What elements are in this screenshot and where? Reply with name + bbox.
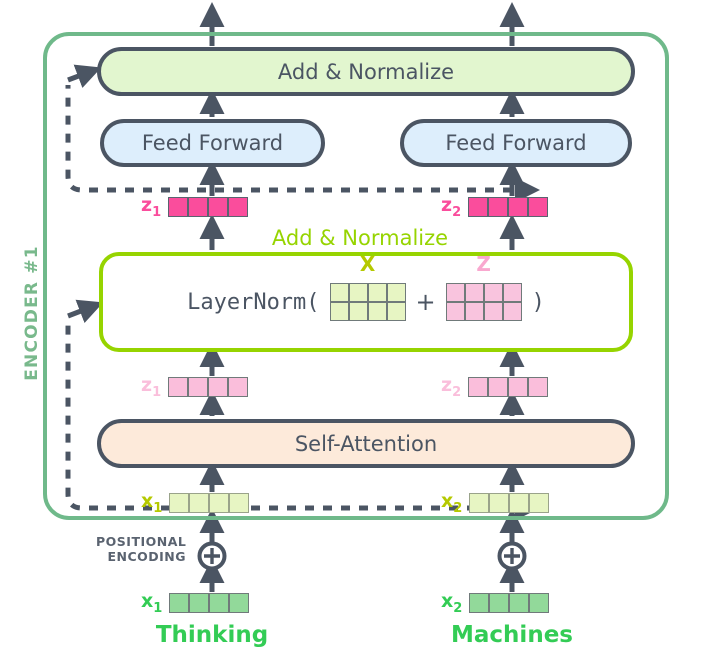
layernorm-expression: LayerNorm( X + Z ) xyxy=(99,252,633,352)
plus-circle-icon-left xyxy=(200,544,225,569)
encoder-label: ENCODER #1 xyxy=(19,233,45,393)
positional-encoding-line2: ENCODING xyxy=(96,549,186,564)
vector-z1-light: z1 xyxy=(141,376,248,399)
vector-z2-light-label: z2 xyxy=(441,376,461,399)
vector-z2-light: z2 xyxy=(441,376,548,399)
vector-x1-light: x1 xyxy=(141,492,249,515)
vector-z2-bright: z2 xyxy=(441,196,548,219)
vector-x2-embedding: x2 xyxy=(441,592,549,615)
transformer-encoder-diagram: ENCODER #1 Add & Normalize Feed Forward … xyxy=(0,0,712,666)
feed-forward-right-label: Feed Forward xyxy=(445,131,586,155)
vector-z1-light-cells xyxy=(168,377,248,397)
vector-x2-embedding-cells xyxy=(469,593,549,613)
add-normalize-top-block[interactable]: Add & Normalize xyxy=(97,47,635,96)
feed-forward-left-block[interactable]: Feed Forward xyxy=(100,119,325,167)
plus-circle-icon-right xyxy=(500,544,525,569)
vector-z1-bright-cells xyxy=(168,197,248,217)
vector-z2-bright-cells xyxy=(468,197,548,217)
add-normalize-top-label: Add & Normalize xyxy=(278,60,454,84)
vector-x1-embedding-cells xyxy=(169,593,249,613)
vector-z2-light-cells xyxy=(468,377,548,397)
feed-forward-right-block[interactable]: Feed Forward xyxy=(400,119,632,167)
positional-encoding-line1: POSITIONAL xyxy=(96,534,186,549)
vector-z1-light-label: z1 xyxy=(141,376,161,399)
vector-z2-bright-label: z2 xyxy=(441,196,461,219)
vector-x1-light-label: x1 xyxy=(141,492,162,515)
vector-z1-bright: z1 xyxy=(141,196,248,219)
vector-x1-embedding-label: x1 xyxy=(141,592,162,615)
self-attention-label: Self-Attention xyxy=(295,432,437,456)
vector-x2-light: x2 xyxy=(441,492,549,515)
matrix-z: Z xyxy=(446,283,522,321)
token-label-1: Thinking xyxy=(122,622,302,648)
matrix-x-label: X xyxy=(330,252,406,276)
matrix-x: X xyxy=(330,283,406,321)
layernorm-fn-close: ) xyxy=(532,290,545,315)
matrix-x-grid xyxy=(330,283,406,321)
token-label-2: Machines xyxy=(422,622,602,648)
add-normalize-mid-label: Add & Normalize xyxy=(250,226,470,252)
self-attention-block[interactable]: Self-Attention xyxy=(97,419,635,468)
matrix-z-label: Z xyxy=(446,252,522,276)
positional-encoding-label: POSITIONAL ENCODING xyxy=(96,534,186,564)
layernorm-plus: + xyxy=(416,288,436,316)
matrix-z-grid xyxy=(446,283,522,321)
feed-forward-left-label: Feed Forward xyxy=(142,131,283,155)
layernorm-fn-open: LayerNorm( xyxy=(187,290,319,315)
vector-x2-light-cells xyxy=(469,493,549,513)
vector-z1-bright-label: z1 xyxy=(141,196,161,219)
vector-x1-light-cells xyxy=(169,493,249,513)
vector-x2-embedding-label: x2 xyxy=(441,592,462,615)
vector-x1-embedding: x1 xyxy=(141,592,249,615)
vector-x2-light-label: x2 xyxy=(441,492,462,515)
